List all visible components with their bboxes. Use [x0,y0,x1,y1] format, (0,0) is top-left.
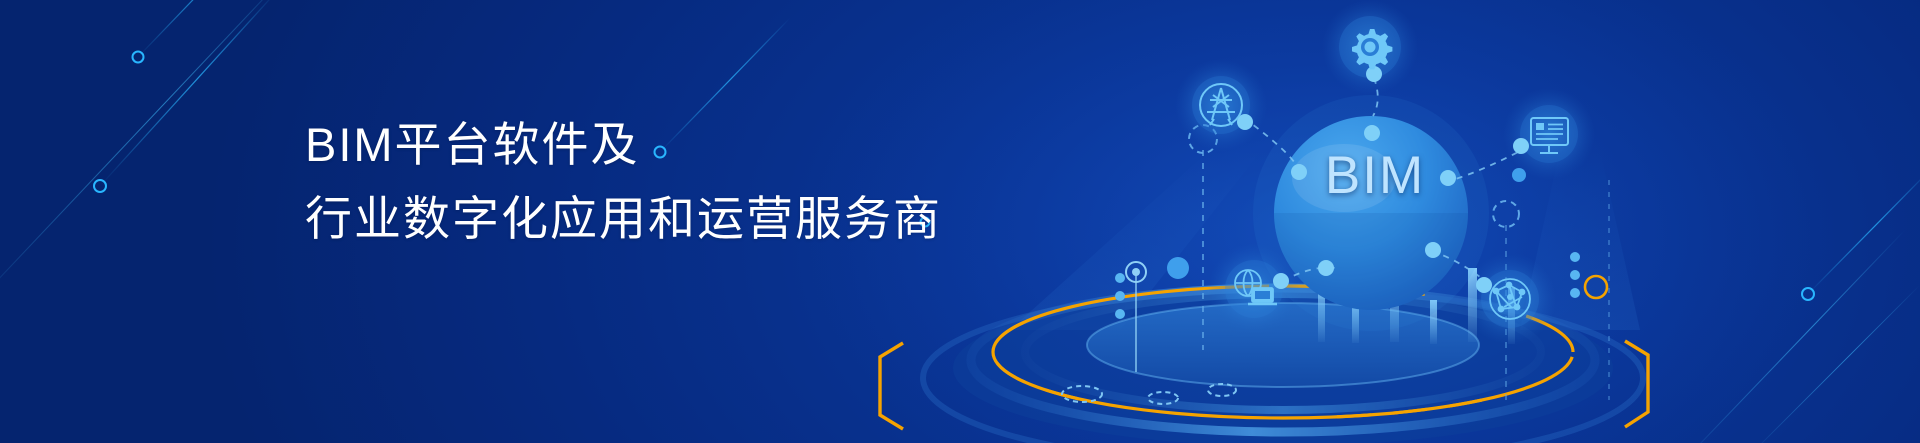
node-network[interactable] [1464,253,1556,345]
dot-column-right [1570,252,1580,298]
blue-dot-large [1167,257,1189,279]
gear-icon [1352,29,1392,69]
headline-line-1: BIM平台软件及 [305,108,942,182]
node-gear[interactable] [1322,0,1418,95]
dot-column-left [1115,273,1125,319]
page-title: BIM平台软件及 行业数字化应用和运营服务商 [305,108,942,256]
node-power-tower[interactable] [1175,59,1267,151]
sphere-highlight [1292,144,1396,212]
bim-illustration [0,0,1920,443]
node-globe-laptop[interactable] [1208,243,1300,335]
bim-hero-banner: BIM平台软件及 行业数字化应用和运营服务商 BIM [0,0,1920,443]
accent-circle-marker [1585,276,1607,298]
node-monitor[interactable] [1503,88,1595,182]
headline-line-2: 行业数字化应用和运营服务商 [305,182,942,256]
bracket-left [880,343,903,429]
